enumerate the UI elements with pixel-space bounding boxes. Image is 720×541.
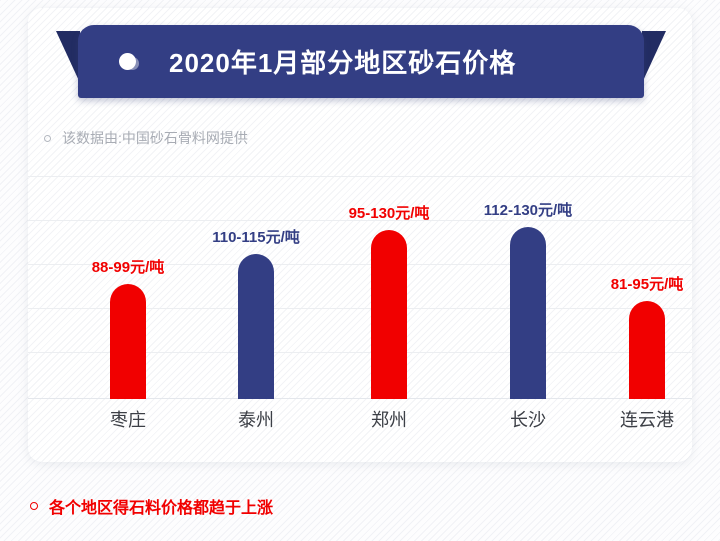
bar-group-1: 110-115元/吨 bbox=[196, 176, 316, 399]
bar-group-2: 95-130元/吨 bbox=[329, 176, 449, 399]
bar-value-label: 112-130元/吨 bbox=[484, 203, 572, 218]
circle-outline-icon bbox=[30, 502, 38, 510]
x-tick-label: 枣庄 bbox=[68, 406, 188, 432]
page-root: 2020年1月部分地区砂石价格 该数据由:中国砂石骨料网提供 88-99元/吨1… bbox=[0, 0, 720, 541]
plot-area: 88-99元/吨110-115元/吨95-130元/吨112-130元/吨81-… bbox=[28, 176, 692, 399]
footer-text: 各个地区得石料价格都趋于上涨 bbox=[49, 494, 273, 518]
x-axis: 枣庄泰州郑州长沙连云港 bbox=[28, 406, 692, 446]
bar[interactable] bbox=[238, 254, 274, 399]
bar[interactable] bbox=[110, 284, 146, 399]
bar-series: 88-99元/吨110-115元/吨95-130元/吨112-130元/吨81-… bbox=[28, 176, 692, 399]
bar-value-label: 81-95元/吨 bbox=[611, 277, 684, 292]
title-banner: 2020年1月部分地区砂石价格 bbox=[78, 25, 644, 98]
footer-note: 各个地区得石料价格都趋于上涨 bbox=[30, 494, 273, 518]
x-tick-label: 连云港 bbox=[587, 406, 707, 432]
x-tick-label: 泰州 bbox=[196, 406, 316, 432]
x-tick-label: 长沙 bbox=[468, 406, 588, 432]
bar-value-label: 110-115元/吨 bbox=[212, 230, 300, 245]
banner-body: 2020年1月部分地区砂石价格 bbox=[78, 25, 644, 98]
bar-group-0: 88-99元/吨 bbox=[68, 176, 188, 399]
bar-group-3: 112-130元/吨 bbox=[468, 176, 588, 399]
bar-group-4: 81-95元/吨 bbox=[587, 176, 707, 399]
bar-value-label: 88-99元/吨 bbox=[92, 260, 165, 275]
bar-value-label: 95-130元/吨 bbox=[349, 206, 430, 221]
circle-outline-icon bbox=[44, 135, 51, 142]
bar[interactable] bbox=[629, 301, 665, 399]
dot-icon bbox=[119, 53, 136, 70]
bar[interactable] bbox=[510, 227, 546, 399]
page-title: 2020年1月部分地区砂石价格 bbox=[169, 43, 516, 80]
x-tick-label: 郑州 bbox=[329, 406, 449, 432]
data-source-text: 该数据由:中国砂石骨料网提供 bbox=[62, 128, 248, 148]
bar[interactable] bbox=[371, 230, 407, 399]
data-source-note: 该数据由:中国砂石骨料网提供 bbox=[44, 128, 248, 148]
